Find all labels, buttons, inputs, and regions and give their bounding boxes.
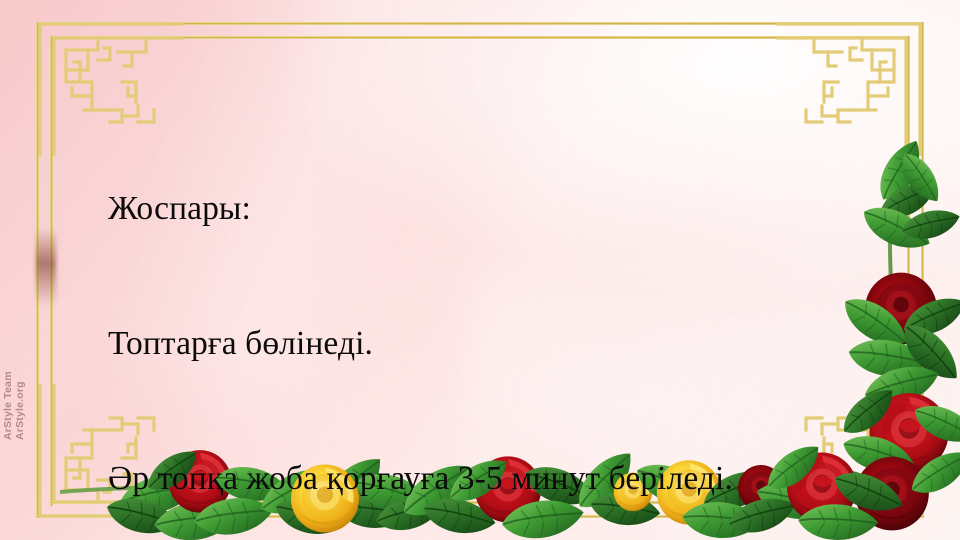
body-line: Жоспары: bbox=[108, 186, 898, 231]
frame-line-left-outer bbox=[36, 22, 39, 518]
slide-body-text: Жоспары: Топтарға бөлінеді. Әр топқа жоб… bbox=[108, 96, 898, 540]
frame-line-left-inner bbox=[50, 36, 53, 506]
watermark: ArStyle Team ArStyle.org bbox=[2, 371, 26, 440]
watermark-line-1: ArStyle Team bbox=[2, 371, 14, 440]
frame-worn-patch bbox=[36, 228, 56, 306]
watermark-line-2: ArStyle.org bbox=[14, 371, 26, 440]
frame-line-top-inner bbox=[50, 36, 910, 39]
body-line: Топтарға бөлінеді. bbox=[108, 321, 898, 366]
frame-line-top-outer bbox=[36, 22, 924, 25]
frame-line-right-outer bbox=[921, 22, 924, 518]
body-line: Әр топқа жоба қорғауға 3-5 минут берілед… bbox=[108, 456, 898, 501]
slide-canvas: Жоспары: Топтарға бөлінеді. Әр топқа жоб… bbox=[0, 0, 960, 540]
frame-line-right-inner bbox=[907, 36, 910, 506]
